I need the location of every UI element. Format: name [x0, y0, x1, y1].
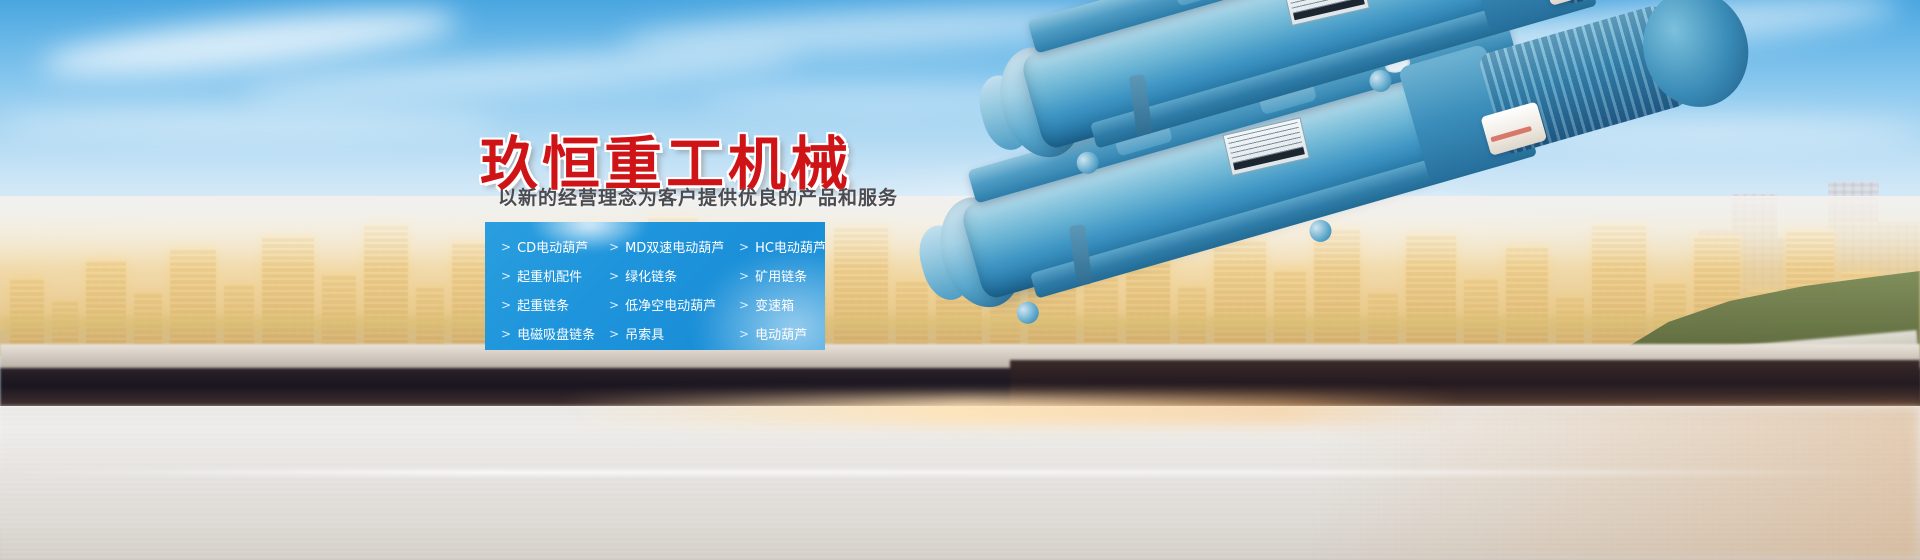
product-link-lifting-chain[interactable]: > 起重链条 [501, 295, 609, 314]
product-label: 绿化链条 [625, 266, 677, 285]
road-lane-line [0, 470, 1920, 475]
product-label: 矿用链条 [755, 266, 807, 285]
chevron-right-icon: > [501, 270, 511, 282]
product-link-hc-electric-hoist[interactable]: > HC电动葫芦 [739, 237, 825, 256]
chevron-right-icon: > [501, 328, 511, 340]
product-label: 变速箱 [755, 295, 794, 314]
product-label: 起重链条 [517, 295, 569, 314]
chevron-right-icon: > [739, 241, 749, 253]
product-link-low-headroom-hoist[interactable]: > 低净空电动葫芦 [609, 295, 739, 314]
chevron-right-icon: > [739, 328, 749, 340]
page-subtitle: 以新的经营理念为客户提供优良的产品和服务 [498, 183, 898, 210]
product-link-electric-hoist[interactable]: > 电动葫芦 [739, 324, 825, 343]
product-link-crane-parts[interactable]: > 起重机配件 [501, 266, 609, 285]
product-link-cd-electric-hoist[interactable]: > CD电动葫芦 [501, 237, 609, 256]
product-label: 电磁吸盘链条 [517, 324, 595, 343]
chevron-right-icon: > [609, 328, 619, 340]
chevron-right-icon: > [609, 270, 619, 282]
hero-banner: 玖恒重工机械 以新的经营理念为客户提供优良的产品和服务 > CD电动葫芦 > M… [0, 0, 1920, 560]
bolt [1074, 149, 1101, 176]
product-photo-electric-hoists [860, 40, 1920, 460]
product-link-md-dual-speed-hoist[interactable]: > MD双速电动葫芦 [609, 237, 739, 256]
chevron-right-icon: > [501, 299, 511, 311]
product-list: > CD电动葫芦 > MD双速电动葫芦 > HC电动葫芦 > 起重机配件 > 绿… [485, 222, 825, 348]
product-label: 电动葫芦 [755, 324, 807, 343]
product-link-magnetic-chuck-chain[interactable]: > 电磁吸盘链条 [501, 324, 609, 343]
product-link-greening-chain[interactable]: > 绿化链条 [609, 266, 739, 285]
chevron-right-icon: > [739, 270, 749, 282]
product-label: 吊索具 [625, 324, 664, 343]
product-label: 低净空电动葫芦 [625, 295, 716, 314]
product-label: HC电动葫芦 [755, 237, 825, 256]
product-link-mining-chain[interactable]: > 矿用链条 [739, 266, 825, 285]
chevron-right-icon: > [609, 241, 619, 253]
product-link-gearbox[interactable]: > 变速箱 [739, 295, 825, 314]
cloud-streak [0, 108, 500, 138]
product-link-slings[interactable]: > 吊索具 [609, 324, 739, 343]
product-list-panel: > CD电动葫芦 > MD双速电动葫芦 > HC电动葫芦 > 起重机配件 > 绿… [485, 222, 825, 350]
chevron-right-icon: > [501, 241, 511, 253]
chevron-right-icon: > [739, 299, 749, 311]
product-label: 起重机配件 [517, 266, 582, 285]
product-label: MD双速电动葫芦 [625, 237, 724, 256]
chevron-right-icon: > [609, 299, 619, 311]
bolt [1367, 67, 1394, 94]
product-label: CD电动葫芦 [517, 237, 588, 256]
